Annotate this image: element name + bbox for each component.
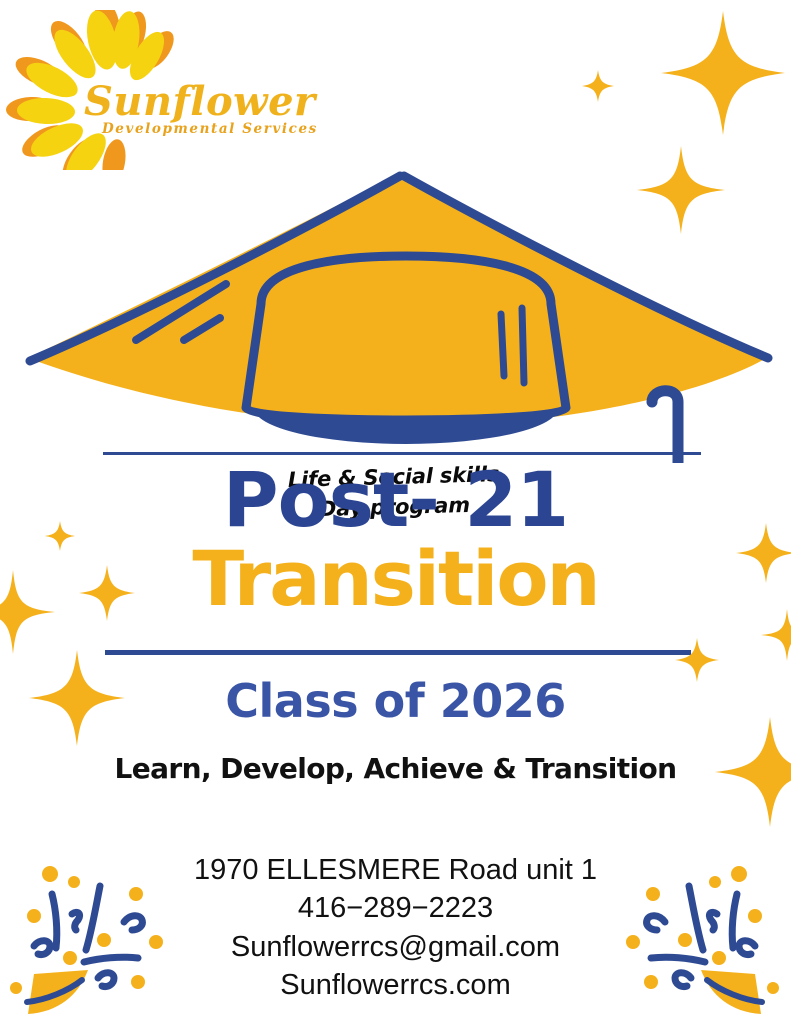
- graduation-cap-icon: [14, 158, 784, 463]
- cap-crown-body: [250, 254, 562, 424]
- title-line-transition: Transition: [0, 539, 791, 618]
- logo-tagline: Developmental Services: [102, 123, 318, 137]
- crown-fold-2: [522, 308, 524, 383]
- graduation-cap: Life & Social skills Day program: [14, 158, 784, 463]
- sunflower-logo: Sunflower Developmental Services: [6, 10, 306, 170]
- four-point-sparkle-icon: [582, 70, 614, 102]
- logo-wordmark: Sunflower: [84, 82, 316, 122]
- crown-fold-1: [501, 314, 504, 376]
- contact-website[interactable]: Sunflowerrcs.com: [0, 966, 791, 1004]
- contact-block: 1970 ELLESMERE Road unit 1 416−289−2223 …: [0, 851, 791, 1004]
- tagline-text: Learn, Develop, Achieve & Transition: [0, 755, 791, 783]
- poster-canvas: Sunflower Developmental Services: [0, 0, 791, 1024]
- divider-rule-bottom: [105, 650, 691, 655]
- page-title: Post- 21 Transition: [0, 462, 791, 618]
- contact-phone[interactable]: 416−289−2223: [0, 889, 791, 927]
- contact-email[interactable]: Sunflowerrcs@gmail.com: [0, 928, 791, 966]
- class-of-heading: Class of 2026: [0, 678, 791, 724]
- four-point-sparkle-icon: [661, 11, 785, 135]
- contact-address: 1970 ELLESMERE Road unit 1: [0, 851, 791, 889]
- title-line-post21: Post- 21: [0, 462, 791, 537]
- four-point-sparkle-icon: [675, 638, 719, 682]
